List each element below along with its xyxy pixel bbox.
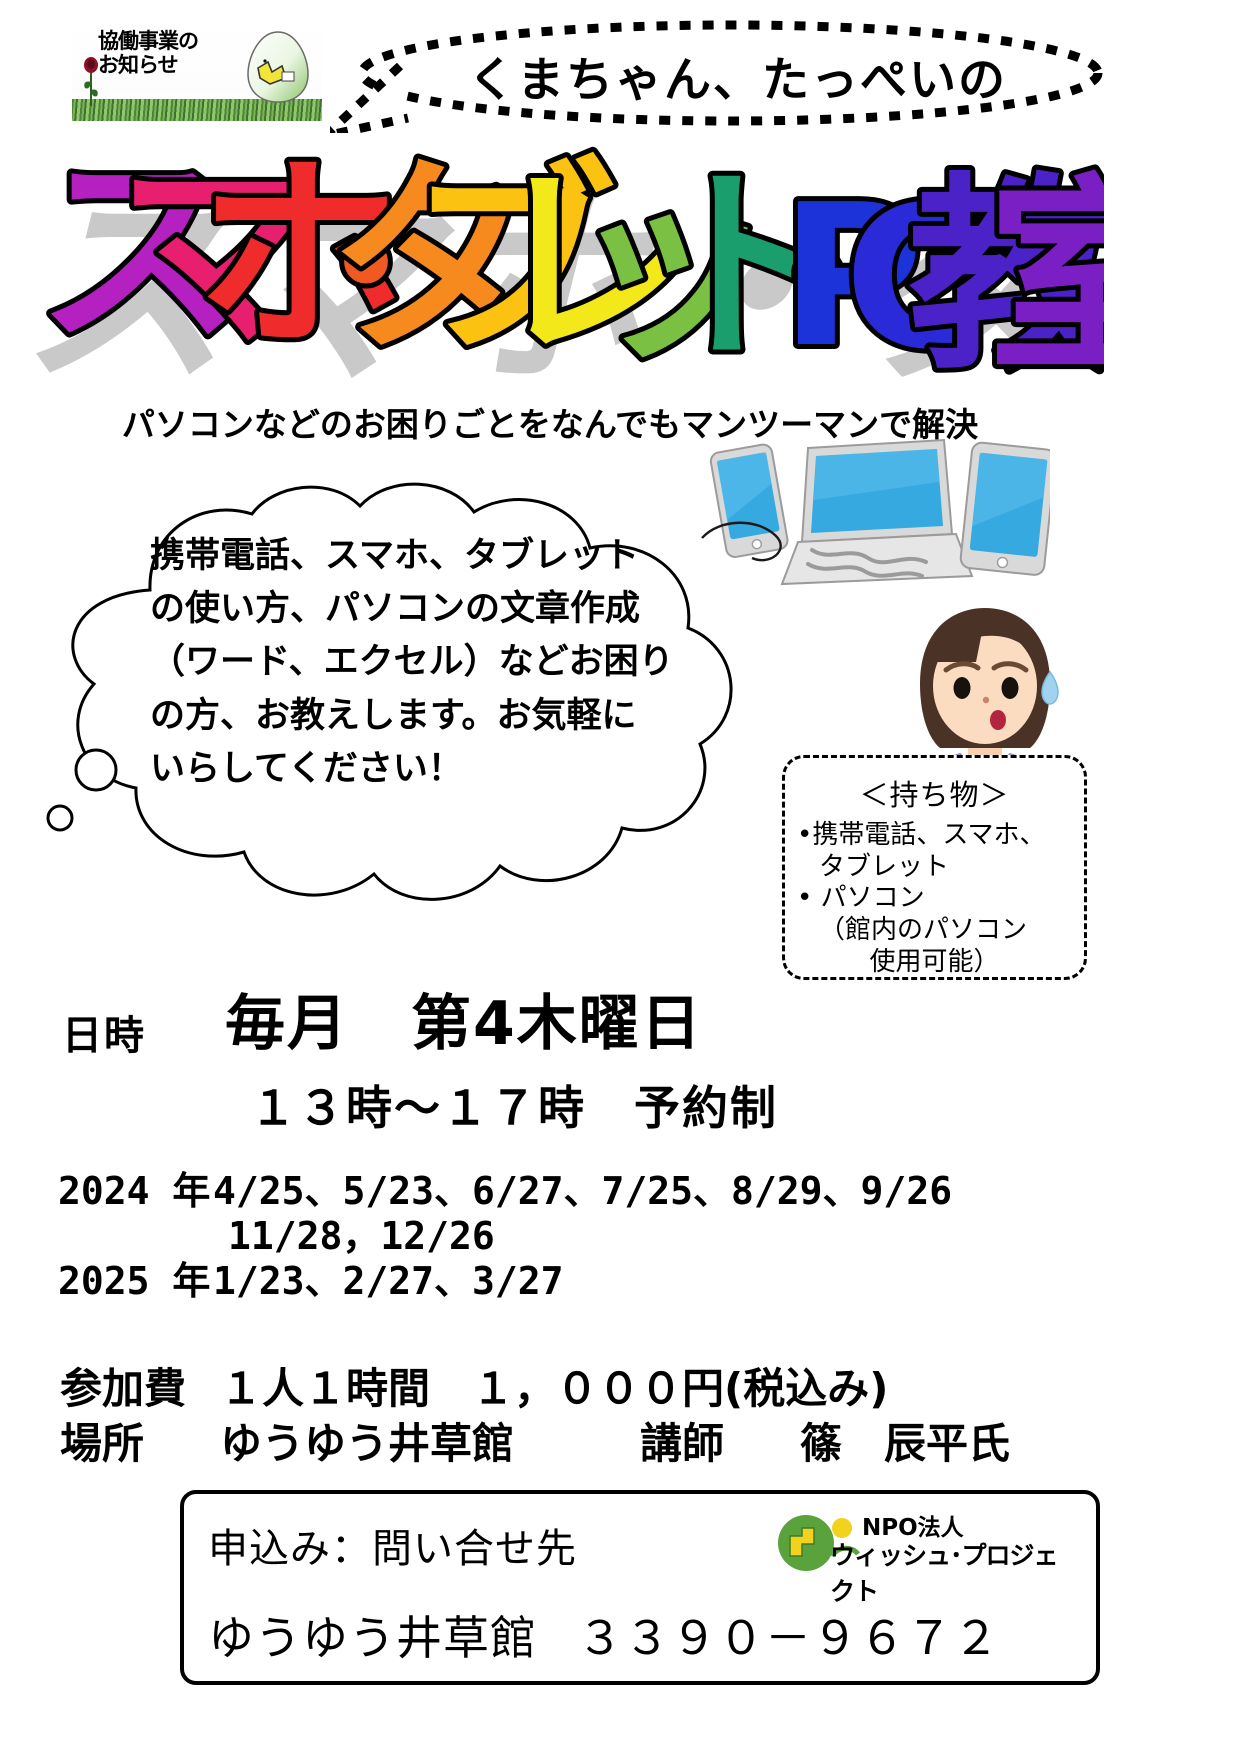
place-row: 場所ゆうゆう井草館講師篠 辰平氏 — [60, 1410, 1010, 1471]
balloon-text: くまちゃん、たっぺいの — [330, 18, 1105, 133]
kyodo-jigyo-banner: 協働事業の お知らせ — [72, 22, 322, 127]
cloud-line-3: （ワード、エクセル）などお困り — [150, 636, 710, 689]
contact-box: 申込み：問い合せ先 ゆうゆう井草館３３９０－９６７２ NPO法人 ウィッシュ･プ… — [180, 1490, 1100, 1685]
bring-items-box: ＜持ち物＞ •携帯電話、スマホ、 タブレット • パソコン （館内のパソコン 使… — [782, 755, 1087, 980]
cloud-text: 携帯電話、スマホ、タブレット の使い方、パソコンの文章作成 （ワード、エクセル）… — [150, 530, 710, 796]
bring-item-4: （館内のパソコン — [797, 915, 1072, 947]
bring-item-5: 使用可能） — [797, 947, 1072, 979]
year-label-2024: 2024 年 — [58, 1160, 213, 1215]
fee-row: 参加費１人１時間 １，０００円(税込み) — [60, 1355, 888, 1416]
wordart-letters: スマホ・タブレット・PC教室 — [36, 132, 1104, 388]
year-label-2025: 2025 年 — [58, 1250, 213, 1305]
schedule-year-2025: 2025 年1/23、2/27、3/27 — [58, 1250, 564, 1305]
npo-logo-block: NPO法人 ウィッシュ･プロジェクト — [770, 1506, 1060, 1580]
schedule-time: １３時〜１７時 予約制 — [250, 1072, 778, 1138]
cloud-bubble: 携帯電話、スマホ、タブレット の使い方、パソコンの文章作成 （ワード、エクセル）… — [30, 470, 790, 940]
contact-details: ゆうゆう井草館３３９０－９６７２ — [208, 1602, 1000, 1668]
bring-items-title: ＜持ち物＞ — [797, 772, 1072, 814]
wordart-char-13: 室 — [988, 158, 1104, 388]
cloud-line-5: いらしてください！ — [150, 743, 710, 796]
contact-tel[interactable]: ３３９０－９６７２ — [577, 1611, 1000, 1665]
banner-line-1: 協働事業の — [98, 30, 248, 54]
place-venue: ゆうゆう井草館 — [220, 1410, 640, 1471]
fee-label: 参加費 — [60, 1355, 220, 1416]
bring-item-1: •携帯電話、スマホ、 — [797, 820, 1072, 852]
fee-value: １人１時間 １，０００円(税込み) — [220, 1364, 888, 1413]
wordart-svg: スマホ・タブレット・PC教室 スマホ・タブレット・PC教室 — [34, 128, 1104, 388]
contact-venue: ゆうゆう井草館 — [208, 1611, 537, 1665]
schedule-year-2024: 2024 年4/25、5/23、6/27、7/25、8/29、9/26 — [58, 1160, 952, 1215]
place-label: 場所 — [60, 1410, 220, 1471]
schedule-main: 毎月 第4木曜日 — [225, 975, 703, 1062]
banner-text: 協働事業の お知らせ — [98, 30, 248, 77]
cloud-line-4: の方、お教えします。お気軽に — [150, 690, 710, 743]
cloud-line-2: の使い方、パソコンの文章作成 — [150, 583, 710, 636]
teacher-name: 篠 辰平氏 — [800, 1419, 1010, 1468]
banner-line-2: お知らせ — [98, 54, 248, 78]
contact-heading: 申込み：問い合せ先 — [208, 1516, 577, 1574]
schedule-label: 日時 — [62, 1003, 146, 1061]
npo-name: ウィッシュ･プロジェクト — [830, 1536, 1060, 1608]
teacher-label: 講師 — [640, 1410, 800, 1471]
year-dates-2025: 1/23、2/27、3/27 — [213, 1259, 564, 1303]
speech-balloon: くまちゃん、たっぺいの — [330, 18, 1105, 133]
chick-egg-icon — [242, 28, 314, 106]
bring-item-2: タブレット — [797, 852, 1072, 884]
bring-item-3: • パソコン — [797, 883, 1072, 915]
wordart-title: スマホ・タブレット・PC教室 スマホ・タブレット・PC教室 — [34, 128, 1104, 388]
cloud-line-1: 携帯電話、スマホ、タブレット — [150, 530, 710, 583]
